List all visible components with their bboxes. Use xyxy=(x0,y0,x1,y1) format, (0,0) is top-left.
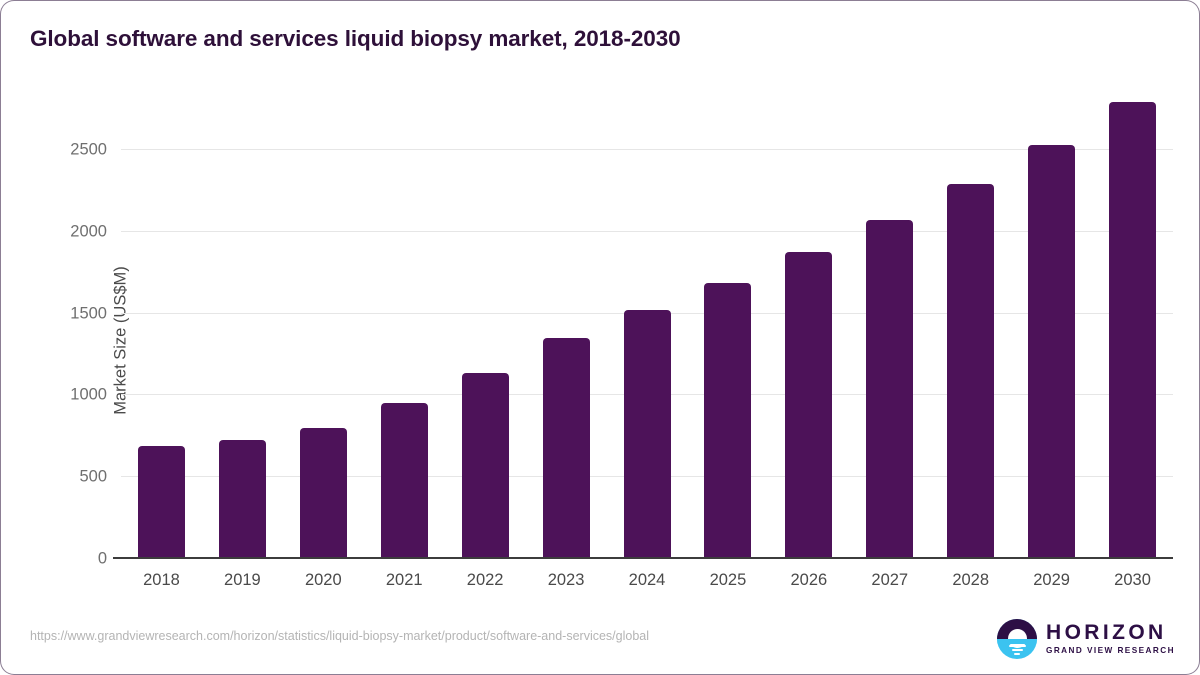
x-tick-label: 2028 xyxy=(931,571,1011,590)
bar[interactable] xyxy=(300,428,347,559)
x-axis-tick-labels: 2018201920202021202220232024202520262027… xyxy=(121,571,1173,597)
chart-card: Global software and services liquid biop… xyxy=(0,0,1200,675)
bar[interactable] xyxy=(624,310,671,559)
x-tick-label: 2018 xyxy=(121,571,201,590)
x-tick-label: 2023 xyxy=(526,571,606,590)
card-edge-mask-top xyxy=(17,0,1183,3)
x-tick-label: 2027 xyxy=(850,571,930,590)
x-tick-label: 2030 xyxy=(1093,571,1173,590)
plot-area xyxy=(121,101,1173,559)
bar[interactable] xyxy=(381,403,428,559)
bar[interactable] xyxy=(219,440,266,559)
x-tick-label: 2029 xyxy=(1012,571,1092,590)
y-tick-label: 2500 xyxy=(1,141,107,160)
bar[interactable] xyxy=(138,446,185,559)
y-tick-label: 500 xyxy=(1,468,107,487)
y-tick-label: 2000 xyxy=(1,222,107,241)
y-tick-label: 1000 xyxy=(1,386,107,405)
x-axis-line xyxy=(113,557,1173,559)
bar-series xyxy=(121,101,1173,559)
bar[interactable] xyxy=(704,283,751,559)
logo-brand: HORIZON xyxy=(1046,622,1175,643)
bar[interactable] xyxy=(866,220,913,559)
x-tick-label: 2019 xyxy=(202,571,282,590)
y-axis-tick-labels: 05001000150020002500 xyxy=(1,1,107,675)
x-tick-label: 2021 xyxy=(364,571,444,590)
logo-tagline: GRAND VIEW RESEARCH xyxy=(1046,647,1175,655)
horizon-sun-circle-icon xyxy=(997,619,1037,659)
x-tick-label: 2025 xyxy=(688,571,768,590)
x-tick-label: 2022 xyxy=(445,571,525,590)
bar[interactable] xyxy=(462,373,509,559)
x-tick-label: 2024 xyxy=(607,571,687,590)
bar[interactable] xyxy=(1028,145,1075,559)
logo-text: HORIZON GRAND VIEW RESEARCH xyxy=(1046,622,1175,655)
source-url[interactable]: https://www.grandviewresearch.com/horizo… xyxy=(30,629,649,643)
y-tick-label: 1500 xyxy=(1,304,107,323)
y-tick-label: 0 xyxy=(1,550,107,569)
brand-logo: HORIZON GRAND VIEW RESEARCH xyxy=(997,619,1175,659)
bar[interactable] xyxy=(947,184,994,559)
page-title: Global software and services liquid biop… xyxy=(30,26,681,52)
bar[interactable] xyxy=(1109,102,1156,559)
bar[interactable] xyxy=(785,252,832,559)
x-tick-label: 2020 xyxy=(283,571,363,590)
x-tick-label: 2026 xyxy=(769,571,849,590)
bar[interactable] xyxy=(543,338,590,559)
